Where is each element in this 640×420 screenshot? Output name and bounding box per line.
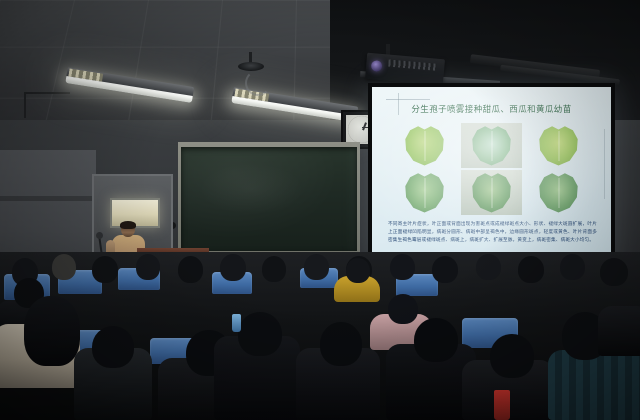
projection-screen: 分生孢子喷雾接种甜瓜、西瓜和黄瓜幼苗	[368, 83, 615, 266]
watermelon-leaf-healthy-icon	[472, 173, 512, 213]
blackboard	[178, 142, 360, 254]
student-head	[52, 254, 76, 280]
student-head	[414, 318, 458, 362]
projector-vents	[388, 60, 436, 71]
cucumber-leaf-spotted-icon	[539, 126, 579, 166]
slide-decoration-line-h	[386, 99, 430, 100]
student-head	[92, 326, 134, 368]
leaf-cell-4	[394, 170, 455, 215]
student-head	[136, 254, 160, 280]
projection-screen-surface: 分生孢子喷雾接种甜瓜、西瓜和黄瓜幼苗	[372, 87, 611, 262]
student-head	[320, 322, 362, 366]
slide-title: 分生孢子喷雾接种甜瓜、西瓜和黄瓜幼苗	[372, 103, 611, 115]
student-head	[220, 254, 246, 281]
melon-leaf-healthy-icon	[405, 173, 445, 213]
leaf-cell-3	[528, 123, 589, 168]
student-head	[178, 256, 203, 283]
student-head	[92, 256, 118, 283]
presenter-hair	[120, 221, 136, 229]
student-head	[262, 256, 286, 282]
student-torso	[598, 306, 640, 356]
leaf-photo-grid	[394, 123, 589, 215]
blackboard-surface	[181, 147, 357, 251]
chalk-smudge	[199, 163, 305, 215]
student-head	[490, 334, 534, 378]
student-head	[346, 258, 370, 283]
classroom-photo-scene: 分生孢子喷雾接种甜瓜、西瓜和黄瓜幼苗	[0, 0, 640, 420]
wall-trim-strip	[0, 196, 96, 201]
student-head	[304, 254, 329, 280]
screen-edge-mark	[604, 129, 605, 199]
water-bottle	[232, 314, 241, 332]
water-bottle	[494, 390, 510, 420]
cucumber-leaf-healthy-icon	[539, 173, 579, 213]
student-head	[432, 256, 458, 283]
student-head	[388, 294, 418, 324]
microphone-icon	[96, 232, 103, 239]
leaf-cell-1	[394, 123, 455, 168]
leaf-cell-6	[528, 170, 589, 215]
student-head	[518, 256, 544, 283]
watermelon-leaf-pale-icon	[472, 126, 512, 166]
audience-area: PEAS	[0, 252, 640, 420]
leaf-cell-5	[461, 170, 522, 215]
student-head	[390, 254, 415, 280]
projector-lens	[371, 60, 383, 72]
student-head	[600, 258, 628, 286]
student-torso-plaid	[548, 350, 640, 420]
leaf-cell-2	[461, 123, 522, 168]
lamp-rod-1b	[24, 92, 70, 94]
student-head	[238, 312, 282, 356]
student-head	[476, 254, 501, 280]
hanging-wire	[245, 70, 271, 96]
lamp-rod-1	[24, 92, 26, 118]
student-head-longhair	[24, 296, 80, 366]
slide-body-text: 不同寄主叶片症状，叶正面或背面出现为害斑点或成褪绿斑点大小、形状、褪绿大斑圆扩展…	[388, 221, 597, 245]
melon-leaf-chlorotic-icon	[405, 126, 445, 166]
student-head	[560, 254, 585, 280]
